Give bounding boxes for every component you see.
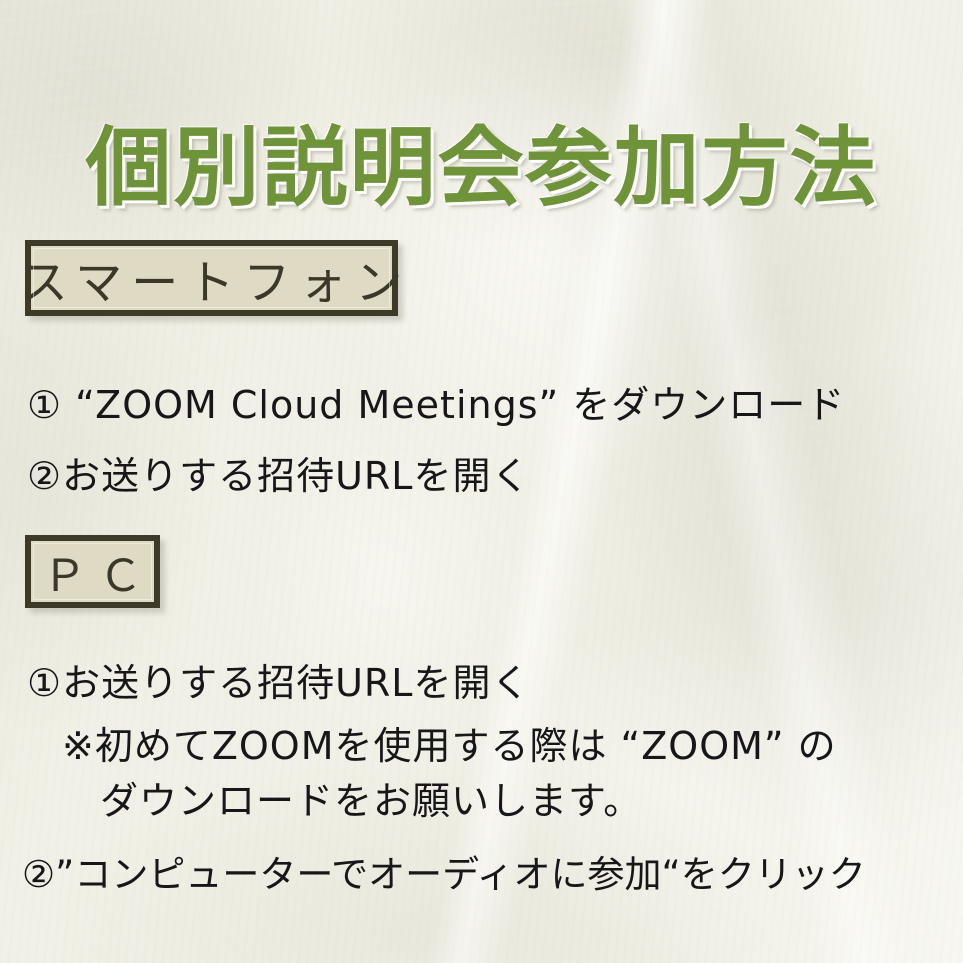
section-label-pc-text: ＰＣ — [31, 540, 155, 604]
poster-canvas: 個別説明会参加方法 スマートフォン ① “ZOOM Cloud Meetings… — [0, 0, 963, 963]
section-label-smartphone-text: スマートフォン — [12, 244, 412, 313]
pc-step-1: ①お送りする招待URLを開く — [27, 660, 530, 706]
smartphone-step-2: ②お送りする招待URLを開く — [27, 453, 530, 499]
smartphone-step-1: ① “ZOOM Cloud Meetings” をダウンロード — [27, 382, 845, 428]
section-label-smartphone: スマートフォン — [25, 240, 398, 316]
pc-step-1-note-line-2: ダウンロードをお願いします。 — [100, 778, 642, 824]
pc-step-1-note-line-1: ※初めてZOOMを使用する際は “ZOOM” の — [62, 723, 837, 769]
page-title: 個別説明会参加方法 — [0, 118, 963, 218]
section-label-pc: ＰＣ — [25, 535, 160, 608]
pc-step-2: ②”コンピューターでオーディオに参加“をクリック — [22, 852, 866, 898]
